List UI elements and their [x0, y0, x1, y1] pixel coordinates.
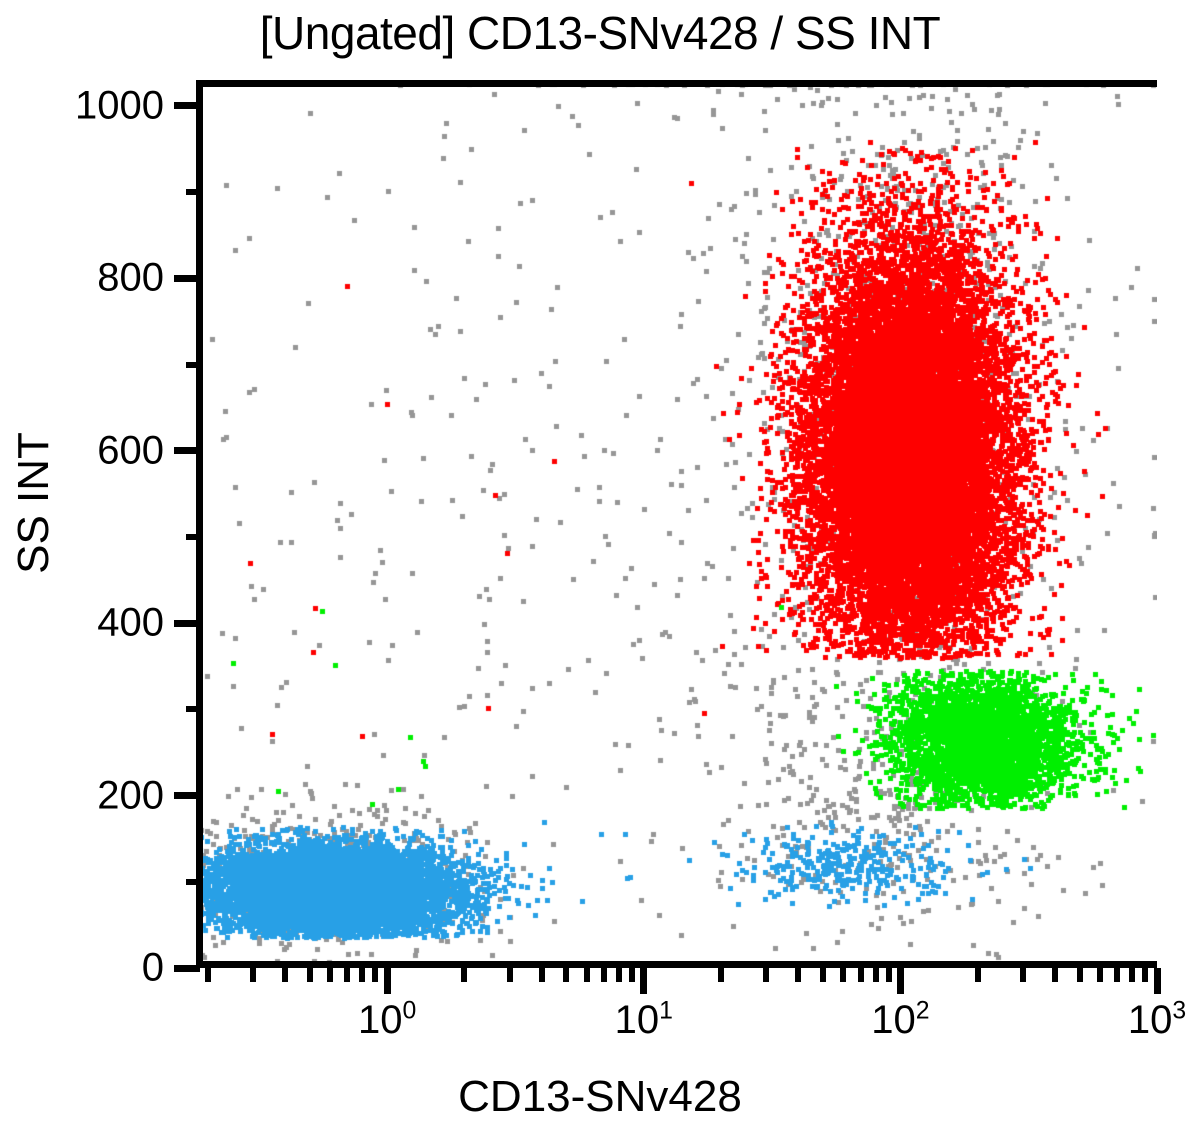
x-tick-label: 100 — [358, 998, 416, 1043]
x-tick-minor — [1097, 968, 1103, 982]
x-tick-label: 101 — [615, 998, 673, 1043]
x-tick-minor — [372, 968, 378, 982]
x-tick-minor — [461, 968, 467, 982]
y-tick-minor — [186, 706, 200, 712]
x-tick-minor — [344, 968, 350, 982]
y-tick-major — [174, 275, 200, 282]
x-tick-minor — [307, 968, 313, 982]
x-tick-major — [1154, 968, 1161, 994]
x-tick-minor — [584, 968, 590, 982]
x-tick-major — [384, 968, 391, 994]
x-tick-minor — [282, 968, 288, 982]
y-tick-label: 400 — [97, 601, 164, 646]
y-tick-label: 600 — [97, 428, 164, 473]
x-tick-minor — [205, 968, 211, 982]
x-tick-major — [897, 968, 904, 994]
y-tick-label: 800 — [97, 256, 164, 301]
x-tick-minor — [1142, 968, 1148, 982]
x-axis-label: CD13-SNv428 — [0, 1072, 1200, 1122]
x-tick-minor — [359, 968, 365, 982]
x-axis: 100101102103 — [196, 968, 1157, 1088]
x-tick-minor — [1020, 968, 1026, 982]
x-tick-minor — [250, 968, 256, 982]
x-tick-minor — [601, 968, 607, 982]
y-tick-major — [174, 447, 200, 454]
x-tick-minor — [873, 968, 879, 982]
x-tick-minor — [629, 968, 635, 982]
y-tick-label: 0 — [142, 946, 164, 991]
x-tick-minor — [763, 968, 769, 982]
y-tick-minor — [186, 534, 200, 540]
x-tick-major — [640, 968, 647, 994]
x-tick-label: 102 — [871, 998, 929, 1043]
x-tick-minor — [563, 968, 569, 982]
y-tick-minor — [186, 189, 200, 195]
y-tick-minor — [186, 879, 200, 885]
x-tick-minor — [886, 968, 892, 982]
x-tick-minor — [1129, 968, 1135, 982]
x-tick-minor — [1077, 968, 1083, 982]
x-tick-minor — [539, 968, 545, 982]
x-tick-minor — [840, 968, 846, 982]
y-tick-major — [174, 792, 200, 799]
x-tick-minor — [820, 968, 826, 982]
scatter-plot-canvas[interactable] — [196, 80, 1157, 968]
x-tick-minor — [507, 968, 513, 982]
y-tick-major — [174, 102, 200, 109]
x-tick-label: 103 — [1128, 998, 1186, 1043]
x-tick-minor — [975, 968, 981, 982]
x-tick-minor — [1114, 968, 1120, 982]
y-tick-minor — [186, 362, 200, 368]
y-tick-label: 1000 — [75, 83, 164, 128]
y-axis-label: SS INT — [9, 373, 59, 633]
y-tick-label: 200 — [97, 773, 164, 818]
x-tick-minor — [795, 968, 801, 982]
y-tick-major — [174, 620, 200, 627]
x-tick-minor — [616, 968, 622, 982]
x-tick-minor — [1052, 968, 1058, 982]
flow-cytometry-scatter-figure: [Ungated] CD13-SNv428 / SS INT 020040060… — [0, 0, 1200, 1142]
x-tick-minor — [718, 968, 724, 982]
x-tick-minor — [858, 968, 864, 982]
x-tick-minor — [327, 968, 333, 982]
